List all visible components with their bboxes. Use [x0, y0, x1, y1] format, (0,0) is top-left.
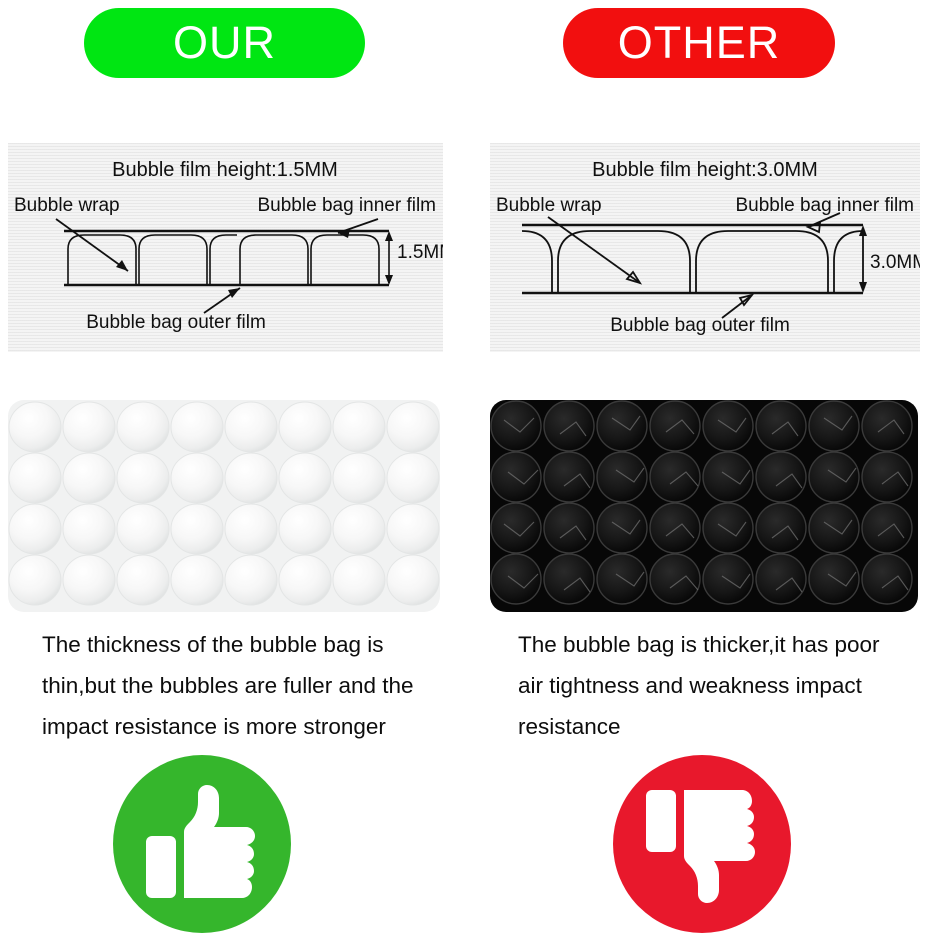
- bubble-profiles-other: [522, 231, 863, 293]
- badge-other-label: OTHER: [618, 17, 781, 69]
- dimension-arrow-other: [859, 225, 867, 293]
- caption-our: The thickness of the bubble bag is thin,…: [42, 624, 462, 747]
- white-bubble-texture: [8, 400, 440, 612]
- bubble-wrap-photo-other: [490, 400, 918, 612]
- badge-our-label: OUR: [173, 17, 276, 69]
- dimension-label-our: 1.5MM: [397, 242, 443, 263]
- dimension-arrow-our: [385, 231, 393, 285]
- label-outer-film-our: Bubble bag outer film: [86, 312, 266, 333]
- label-outer-film-other: Bubble bag outer film: [610, 315, 790, 336]
- leader-bubble-wrap-our: [56, 219, 128, 271]
- thumbs-up-icon: [138, 780, 266, 908]
- verdict-our: [113, 755, 291, 933]
- diagram-panel-other: Bubble film height:3.0MM Bubble wrap Bub…: [490, 143, 920, 352]
- badge-our: OUR: [84, 8, 365, 78]
- diagram-panel-our: Bubble film height:1.5MM Bubble wrap Bub…: [8, 143, 443, 352]
- thumbs-down-icon: [638, 780, 766, 908]
- diagram-title-our: Bubble film height:1.5MM: [112, 159, 338, 181]
- caption-other: The bubble bag is thicker,it has poor ai…: [518, 624, 923, 747]
- cross-section-diagram-other: Bubble film height:3.0MM Bubble wrap Bub…: [490, 143, 920, 352]
- label-inner-film-other: Bubble bag inner film: [736, 195, 915, 216]
- dimension-label-other: 3.0MM: [870, 252, 920, 273]
- cross-section-diagram-our: Bubble film height:1.5MM Bubble wrap Bub…: [8, 143, 443, 352]
- leader-bubble-wrap-other: [548, 217, 640, 283]
- label-bubble-wrap-our: Bubble wrap: [14, 195, 120, 216]
- black-bubble-texture: [490, 400, 918, 612]
- bubble-wrap-photo-our: [8, 400, 440, 612]
- bubble-profiles-our: [68, 235, 379, 285]
- label-inner-film-our: Bubble bag inner film: [258, 195, 437, 216]
- diagram-title-other: Bubble film height:3.0MM: [592, 159, 818, 181]
- verdict-other: [613, 755, 791, 933]
- label-bubble-wrap-other: Bubble wrap: [496, 195, 602, 216]
- badge-other: OTHER: [563, 8, 835, 78]
- leader-outer-film-our: [204, 288, 240, 313]
